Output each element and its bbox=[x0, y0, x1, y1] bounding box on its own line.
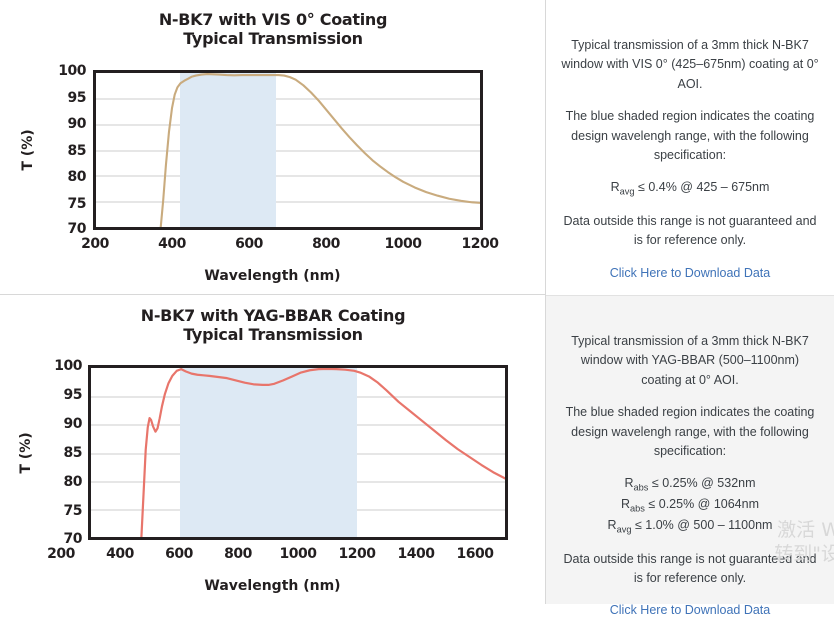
vis-info-paragraph-2: The blue shaded region indicates the coa… bbox=[560, 107, 820, 165]
vis-chart-title-line2: Typical Transmission bbox=[0, 30, 546, 49]
bbar-ytick-70: 70 bbox=[48, 531, 82, 547]
vis-x-axis-label: Wavelength (nm) bbox=[0, 268, 545, 284]
bbar-xtick-600: 600 bbox=[149, 546, 209, 562]
bbar-xtick-1400: 1400 bbox=[386, 546, 446, 562]
vis-spec-block: Ravg ≤ 0.4% @ 425 – 675nm bbox=[560, 178, 820, 199]
bbar-xtick-800: 800 bbox=[208, 546, 268, 562]
bbar-download-data-link[interactable]: Click Here to Download Data bbox=[610, 603, 771, 617]
vis-y-axis-label: T (%) bbox=[20, 120, 36, 180]
bbar-xtick-200: 200 bbox=[31, 546, 91, 562]
vis-info-disclaimer: Data outside this range is not guarantee… bbox=[560, 212, 820, 251]
bbar-ytick-90: 90 bbox=[48, 416, 82, 432]
bbar-chart-title-line2: Typical Transmission bbox=[0, 326, 546, 345]
bbar-chart-title-line1: N-BK7 with YAG-BBAR Coating bbox=[0, 307, 546, 326]
bbar-info-disclaimer: Data outside this range is not guarantee… bbox=[560, 550, 820, 589]
vis-transmission-curve bbox=[96, 73, 480, 227]
vis-xtick-800: 800 bbox=[296, 236, 356, 252]
bbar-xtick-1600: 1600 bbox=[445, 546, 505, 562]
vis-xtick-400: 400 bbox=[142, 236, 202, 252]
yag-bbar-chart-panel: N-BK7 with YAG-BBAR Coating Typical Tran… bbox=[0, 295, 546, 604]
vis-chart-title-line1: N-BK7 with VIS 0° Coating bbox=[0, 11, 546, 30]
bbar-ytick-95: 95 bbox=[48, 387, 82, 403]
bbar-x-axis-label: Wavelength (nm) bbox=[0, 578, 545, 594]
yag-bbar-info-panel: Typical transmission of a 3mm thick N-BK… bbox=[546, 295, 834, 604]
vis-ytick-80: 80 bbox=[52, 169, 86, 185]
transmission-charts-page: N-BK7 with VIS 0° Coating Typical Transm… bbox=[0, 0, 834, 604]
bbar-y-axis-label: T (%) bbox=[18, 423, 34, 483]
vis-ytick-70: 70 bbox=[52, 221, 86, 237]
vis-info-panel: Typical transmission of a 3mm thick N-BK… bbox=[546, 0, 834, 295]
bbar-spec-line-2: Rabs ≤ 0.25% @ 1064nm bbox=[560, 495, 820, 516]
vis-xtick-1200: 1200 bbox=[450, 236, 510, 252]
bbar-spec-line-1: Rabs ≤ 0.25% @ 532nm bbox=[560, 474, 820, 495]
bbar-chart-title: N-BK7 with YAG-BBAR Coating Typical Tran… bbox=[0, 307, 546, 345]
bbar-xtick-1000: 1000 bbox=[268, 546, 328, 562]
bbar-xtick-1200: 1200 bbox=[327, 546, 387, 562]
bbar-spec-block: Rabs ≤ 0.25% @ 532nm Rabs ≤ 0.25% @ 1064… bbox=[560, 474, 820, 536]
vis-coating-row: N-BK7 with VIS 0° Coating Typical Transm… bbox=[0, 0, 834, 295]
vis-xtick-600: 600 bbox=[219, 236, 279, 252]
vis-ytick-100: 100 bbox=[52, 63, 86, 79]
vis-ytick-95: 95 bbox=[52, 90, 86, 106]
bbar-info-paragraph-1: Typical transmission of a 3mm thick N-BK… bbox=[560, 332, 820, 390]
bbar-xtick-400: 400 bbox=[90, 546, 150, 562]
vis-ytick-85: 85 bbox=[52, 143, 86, 159]
vis-spec-line-1: Ravg ≤ 0.4% @ 425 – 675nm bbox=[560, 178, 820, 199]
vis-ytick-75: 75 bbox=[52, 196, 86, 212]
bbar-info-paragraph-2: The blue shaded region indicates the coa… bbox=[560, 403, 820, 461]
vis-xtick-1000: 1000 bbox=[373, 236, 433, 252]
bbar-ytick-85: 85 bbox=[48, 445, 82, 461]
bbar-ytick-80: 80 bbox=[48, 474, 82, 490]
vis-plot-area bbox=[93, 70, 483, 230]
vis-coating-chart-panel: N-BK7 with VIS 0° Coating Typical Transm… bbox=[0, 0, 546, 295]
vis-info-paragraph-1: Typical transmission of a 3mm thick N-BK… bbox=[560, 36, 820, 94]
bbar-ytick-75: 75 bbox=[48, 503, 82, 519]
yag-bbar-coating-row: N-BK7 with YAG-BBAR Coating Typical Tran… bbox=[0, 295, 834, 604]
bbar-transmission-curve bbox=[91, 368, 505, 537]
bbar-ytick-100: 100 bbox=[48, 358, 82, 374]
vis-xtick-200: 200 bbox=[65, 236, 125, 252]
vis-ytick-90: 90 bbox=[52, 116, 86, 132]
vis-download-data-link[interactable]: Click Here to Download Data bbox=[610, 266, 771, 280]
vis-chart-title: N-BK7 with VIS 0° Coating Typical Transm… bbox=[0, 11, 546, 49]
bbar-plot-area bbox=[88, 365, 508, 540]
bbar-spec-line-3: Ravg ≤ 1.0% @ 500 – 1100nm bbox=[560, 516, 820, 537]
